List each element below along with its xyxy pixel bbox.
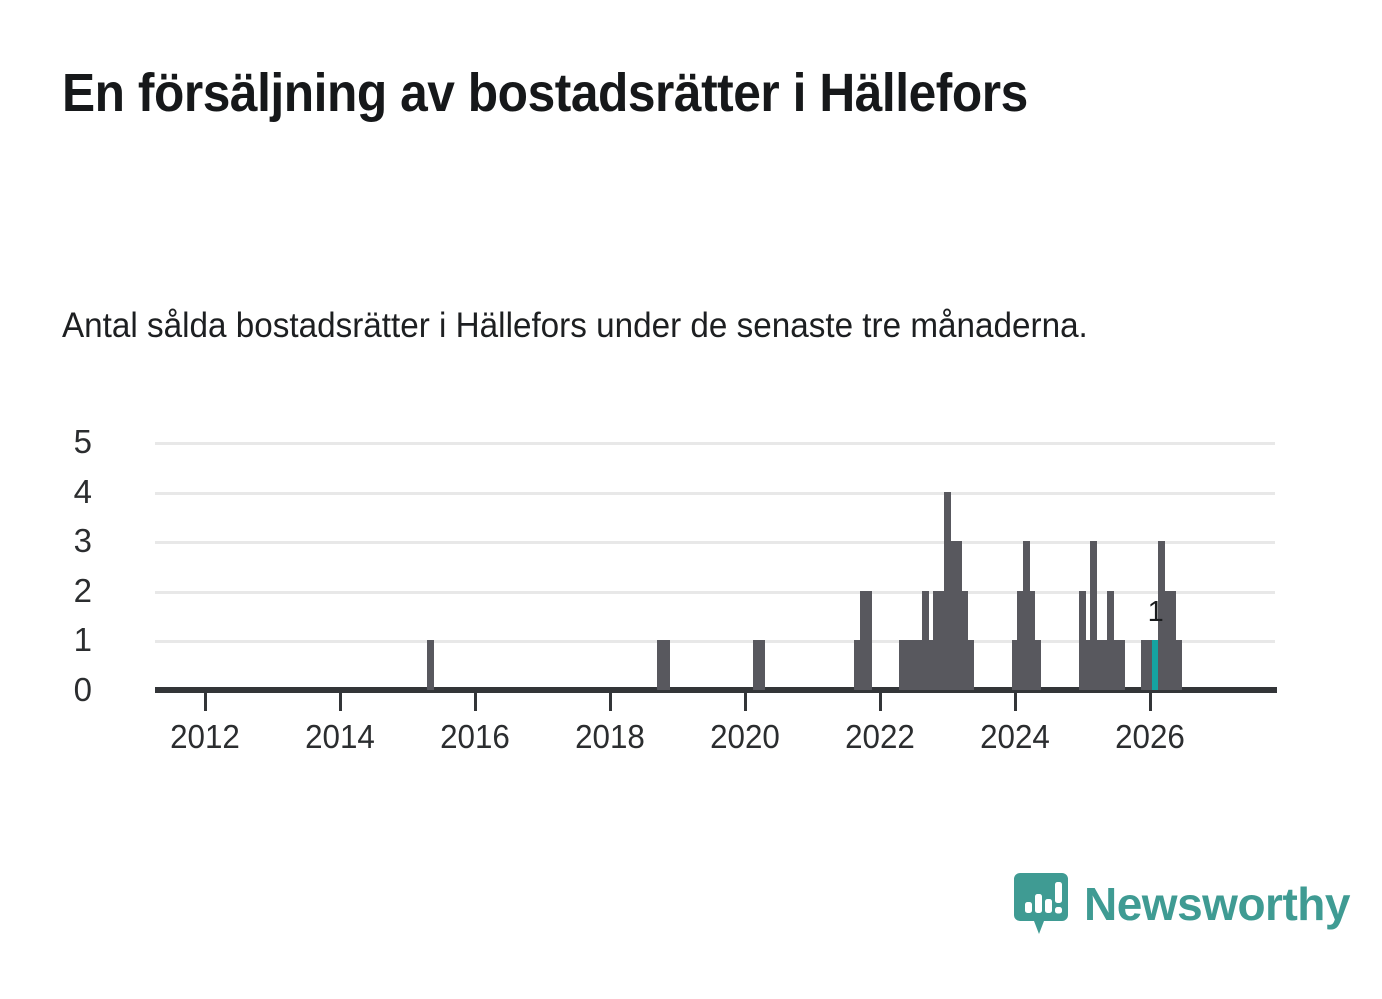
- bar: [927, 640, 934, 690]
- bar: [905, 640, 912, 690]
- gridline-5: [155, 442, 1275, 445]
- bar: [1118, 640, 1125, 690]
- bar: [657, 640, 664, 690]
- x-tick-label-2018: 2018: [553, 718, 667, 756]
- bar: [1017, 591, 1024, 690]
- bar: [955, 541, 962, 690]
- y-tick-0: 0: [32, 673, 92, 706]
- y-tick-5: 5: [32, 425, 92, 458]
- bar: [950, 541, 957, 690]
- bar: [1169, 591, 1176, 690]
- bar: [663, 640, 670, 690]
- bar: [1023, 541, 1030, 690]
- gridline-1: [155, 640, 1275, 643]
- bar-chart: 012345 20122014201620182020202220242026 …: [0, 0, 1382, 999]
- x-tick-label-2014: 2014: [283, 718, 397, 756]
- bar: [1175, 640, 1182, 690]
- y-tick-3: 3: [32, 524, 92, 557]
- bar: [933, 591, 940, 690]
- chart-bars: [0, 440, 1382, 690]
- bar: [753, 640, 760, 690]
- bar: [1102, 640, 1109, 690]
- bar: [854, 640, 861, 690]
- x-tick-mark-2022: [879, 693, 882, 711]
- bar: [865, 591, 872, 690]
- bar: [910, 640, 917, 690]
- bar: [1107, 591, 1114, 690]
- bar: [961, 591, 968, 690]
- bar: [1034, 640, 1041, 690]
- bar: [922, 591, 929, 690]
- x-axis-line: [155, 687, 1277, 693]
- bar: [1163, 591, 1170, 690]
- x-tick-label-2020: 2020: [688, 718, 802, 756]
- bar: [1152, 640, 1159, 690]
- bar: [1028, 591, 1035, 690]
- x-tick-label-2016: 2016: [418, 718, 532, 756]
- x-tick-mark-2014: [339, 693, 342, 711]
- bar: [938, 591, 945, 690]
- bar: [1079, 591, 1086, 690]
- x-tick-mark-2024: [1014, 693, 1017, 711]
- bar: [860, 591, 867, 690]
- bar: [1141, 640, 1148, 690]
- page-title: En försäljning av bostadsrätter i Hällef…: [62, 58, 1037, 129]
- gridline-3: [155, 541, 1275, 544]
- bar: [916, 640, 923, 690]
- bar: [944, 492, 951, 690]
- newsworthy-wordmark: Newsworthy: [1084, 881, 1350, 927]
- bar: [1090, 541, 1097, 690]
- bar: [758, 640, 765, 690]
- chart-page: En försäljning av bostadsrätter i Hällef…: [0, 0, 1382, 999]
- bar: [1096, 640, 1103, 690]
- bar: [899, 640, 906, 690]
- x-tick-label-2026: 2026: [1093, 718, 1207, 756]
- bar: [1085, 640, 1092, 690]
- gridline-2: [155, 591, 1275, 594]
- bar: [1147, 640, 1154, 690]
- x-tick-label-2024: 2024: [958, 718, 1072, 756]
- bar-value-label: 1: [1148, 598, 1164, 627]
- x-tick-mark-2026: [1149, 693, 1152, 711]
- y-tick-1: 1: [32, 623, 92, 656]
- bar: [1113, 640, 1120, 690]
- bar: [1158, 541, 1165, 690]
- gridline-4: [155, 492, 1275, 495]
- bar: [1012, 640, 1019, 690]
- x-tick-mark-2020: [744, 693, 747, 711]
- x-tick-mark-2018: [609, 693, 612, 711]
- y-tick-2: 2: [32, 574, 92, 607]
- newsworthy-logo[interactable]: Newsworthy: [1012, 871, 1350, 937]
- x-tick-label-2022: 2022: [823, 718, 937, 756]
- y-tick-4: 4: [32, 475, 92, 508]
- page-subtitle: Antal sålda bostadsrätter i Hällefors un…: [62, 298, 1250, 355]
- bar: [967, 640, 974, 690]
- x-tick-label-2012: 2012: [148, 718, 262, 756]
- x-tick-mark-2012: [204, 693, 207, 711]
- bar-chart-speech-bubble-icon: [1012, 871, 1070, 937]
- x-tick-mark-2016: [474, 693, 477, 711]
- bar: [427, 640, 434, 690]
